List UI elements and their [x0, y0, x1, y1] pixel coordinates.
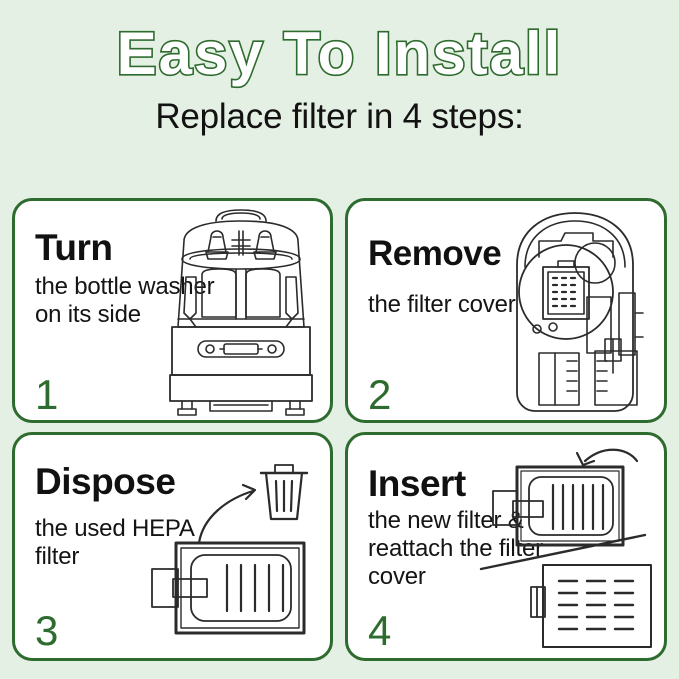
appliance-base-with-magnifier-icon: [495, 205, 660, 420]
install-instructions-infographic: Easy To Install Replace filter in 4 step…: [0, 0, 679, 679]
step-1-number: 1: [35, 372, 58, 418]
header: Easy To Install Replace filter in 4 step…: [0, 0, 679, 190]
step-card-4: Insert the new filter & reattach the fil…: [345, 432, 667, 661]
new-filter-and-filter-cover-icon: [477, 439, 662, 657]
step-card-3: Dispose the used HEPA filter 3: [12, 432, 333, 661]
step-card-1: Turn the bottle washer on its side 1: [12, 198, 333, 423]
step-2-number: 2: [368, 372, 391, 418]
page-title: Easy To Install: [0, 20, 679, 88]
step-card-2: Remove the filter cover 2: [345, 198, 667, 423]
page-subtitle: Replace filter in 4 steps:: [0, 96, 679, 138]
trash-can-icon: [261, 465, 307, 519]
step-4-number: 4: [368, 608, 391, 654]
filter-cartridge-with-trash-can-icon: [149, 447, 324, 637]
bottle-washer-appliance-icon: [156, 207, 326, 419]
step-3-number: 3: [35, 608, 58, 654]
